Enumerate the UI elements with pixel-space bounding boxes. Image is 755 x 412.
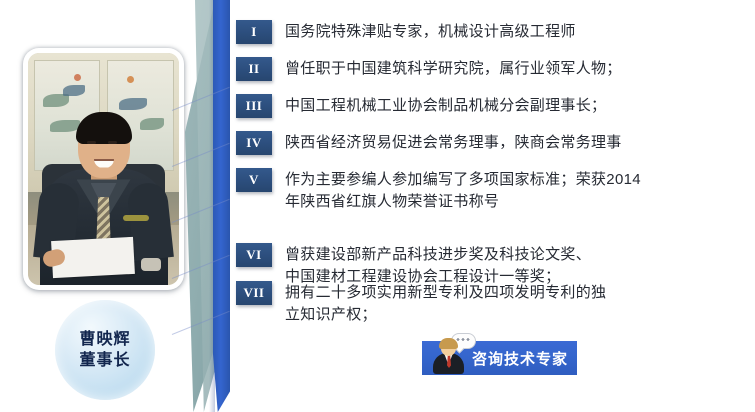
- credential-text: 作为主要参编人参加编写了多项国家标准；荣获2014 年陕西省红旗人物荣誉证书称号: [285, 169, 641, 213]
- credential-item-3: III 中国工程机械工业协会制品机械分会副理事长；: [236, 94, 606, 118]
- credential-text: 中国工程机械工业协会制品机械分会副理事长；: [285, 95, 606, 117]
- credential-item-7: VII 拥有二十多项实用新型专利及四项发明专利的独 立知识产权；: [236, 281, 606, 326]
- credential-numeral-badge: I: [236, 20, 272, 44]
- credential-numeral-badge: III: [236, 94, 272, 118]
- name-badge: 曹映辉 董事长: [55, 300, 155, 400]
- photo-person-pocket-pen: [123, 215, 149, 221]
- chairman-photo-frame: [23, 48, 184, 290]
- photo-person-wristwatch: [141, 258, 161, 271]
- credential-numeral-badge: V: [236, 168, 272, 192]
- credentials-list: I 国务院特殊津贴专家，机械设计高级工程师 II 曾任职于中国建筑科学研究院，属…: [236, 0, 755, 412]
- credential-numeral-badge: VII: [236, 281, 272, 305]
- vertical-blue-bar: [213, 0, 230, 412]
- painting-blossom: [127, 76, 134, 83]
- credential-item-2: II 曾任职于中国建筑科学研究院，属行业领军人物；: [236, 57, 622, 81]
- credential-numeral-badge: VI: [236, 243, 272, 267]
- painting-leaf: [63, 85, 85, 96]
- chairman-profile-card: 曹映辉 董事长 I 国务院特殊津贴专家，机械设计高级工程师 II 曾任职于中国建…: [0, 0, 755, 412]
- credential-text: 拥有二十多项实用新型专利及四项发明专利的独 立知识产权；: [285, 282, 606, 326]
- credential-text: 陕西省经济贸易促进会常务理事，陕商会常务理事: [285, 132, 622, 154]
- consult-expert-button[interactable]: 咨询技术专家: [422, 341, 577, 375]
- person-title: 董事长: [79, 351, 130, 371]
- painting-blossom: [74, 74, 81, 81]
- credential-numeral-badge: II: [236, 57, 272, 81]
- painting-leaf: [140, 118, 164, 130]
- credential-numeral-badge: IV: [236, 131, 272, 155]
- avatar-hair: [439, 338, 458, 349]
- photo-person-eye-left: [87, 141, 96, 144]
- chairman-photo: [28, 53, 179, 285]
- consultant-avatar-icon: [430, 333, 474, 375]
- painting-leaf: [119, 98, 147, 110]
- credential-item-5: V 作为主要参编人参加编写了多项国家标准；荣获2014 年陕西省红旗人物荣誉证书…: [236, 168, 641, 213]
- credential-text: 国务院特殊津贴专家，机械设计高级工程师: [285, 21, 576, 43]
- photo-person-eye-right: [108, 141, 117, 144]
- consult-expert-label: 咨询技术专家: [472, 348, 568, 369]
- credential-item-4: IV 陕西省经济贸易促进会常务理事，陕商会常务理事: [236, 131, 622, 155]
- person-name: 曹映辉: [79, 330, 130, 350]
- speech-bubble-dots: [456, 338, 470, 341]
- credential-item-1: I 国务院特殊津贴专家，机械设计高级工程师: [236, 20, 576, 44]
- credential-text: 曾任职于中国建筑科学研究院，属行业领军人物；: [285, 58, 622, 80]
